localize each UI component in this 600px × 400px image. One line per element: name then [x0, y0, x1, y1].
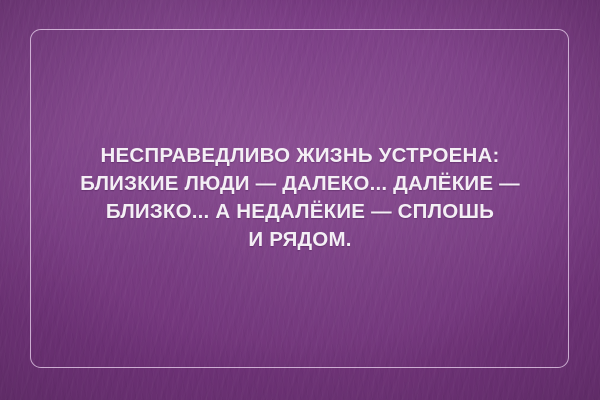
quote-line-4: И РЯДОМ. [18, 226, 582, 254]
quote-text: НЕСПРАВЕДЛИВО ЖИЗНЬ УСТРОЕНА: БЛИЗКИЕ ЛЮ… [0, 142, 600, 254]
quote-line-3: БЛИЗКО... А НЕДАЛЁКИЕ — СПЛОШЬ [18, 198, 582, 226]
quote-line-2: БЛИЗКИЕ ЛЮДИ — ДАЛЕКО... ДАЛЁКИЕ — [18, 170, 582, 198]
quote-line-1: НЕСПРАВЕДЛИВО ЖИЗНЬ УСТРОЕНА: [18, 142, 582, 170]
quote-card: НЕСПРАВЕДЛИВО ЖИЗНЬ УСТРОЕНА: БЛИЗКИЕ ЛЮ… [0, 0, 600, 400]
